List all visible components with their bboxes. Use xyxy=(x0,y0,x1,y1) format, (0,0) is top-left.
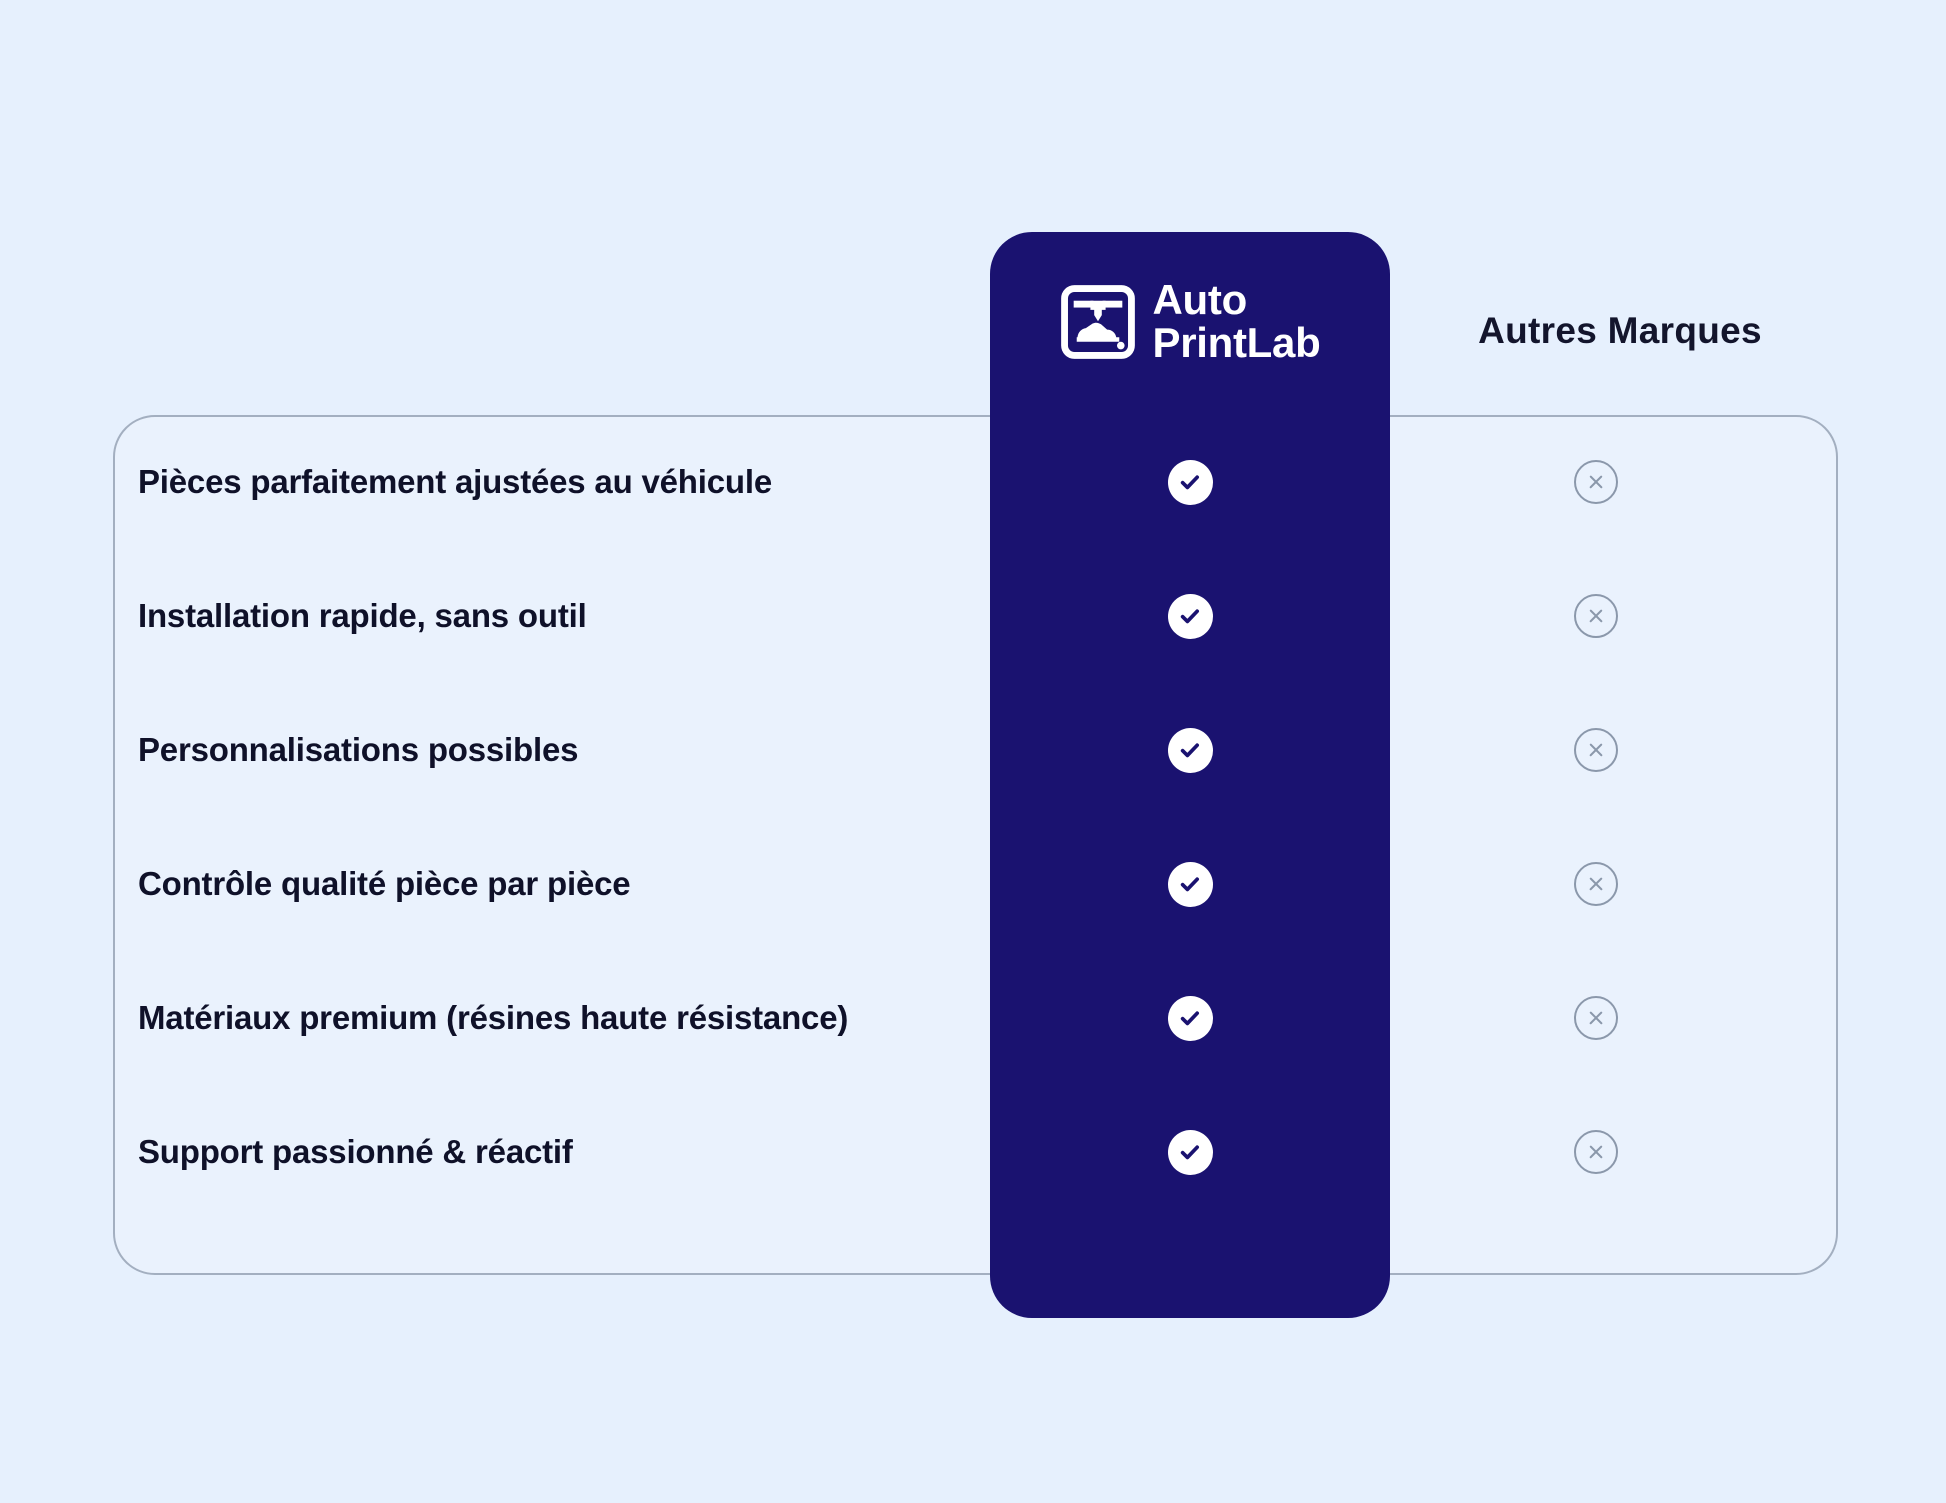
feature-label: Installation rapide, sans outil xyxy=(138,597,587,635)
check-cells xyxy=(990,415,1390,1275)
feature-label: Contrôle qualité pièce par pièce xyxy=(138,865,630,903)
table-row: Support passionné & réactif xyxy=(113,1085,1838,1219)
brand-name-line2: PrintLab xyxy=(1153,319,1321,366)
cross-icon xyxy=(1574,996,1618,1040)
feature-rows: Pièces parfaitement ajustées au véhicule… xyxy=(113,415,1838,1275)
table-row: Personnalisations possibles xyxy=(113,683,1838,817)
comparison-table-page: Autres Marques Pièces parfaitement ajust… xyxy=(0,0,1946,1503)
feature-label: Personnalisations possibles xyxy=(138,731,578,769)
cross-icon xyxy=(1574,728,1618,772)
brand-name: Auto PrintLab xyxy=(1153,279,1321,365)
other-brands-column-header: Autres Marques xyxy=(1440,310,1800,352)
check-icon xyxy=(990,683,1390,817)
cross-icon xyxy=(1574,862,1618,906)
check-icon xyxy=(990,1085,1390,1219)
table-row: Matériaux premium (résines haute résista… xyxy=(113,951,1838,1085)
cross-icon xyxy=(1574,594,1618,638)
table-row: Contrôle qualité pièce par pièce xyxy=(113,817,1838,951)
cross-icon xyxy=(1574,1130,1618,1174)
feature-label: Matériaux premium (résines haute résista… xyxy=(138,999,848,1037)
brand-lockup: Auto PrintLab xyxy=(990,279,1390,365)
3d-printer-car-icon xyxy=(1060,284,1136,360)
table-row: Installation rapide, sans outil xyxy=(113,549,1838,683)
feature-label: Support passionné & réactif xyxy=(138,1133,573,1171)
feature-label: Pièces parfaitement ajustées au véhicule xyxy=(138,463,772,501)
brand-name-line1: Auto xyxy=(1153,276,1247,323)
check-icon xyxy=(990,817,1390,951)
check-icon xyxy=(990,415,1390,549)
cross-icon xyxy=(1574,460,1618,504)
check-icon xyxy=(990,951,1390,1085)
check-icon xyxy=(990,549,1390,683)
autoprintlab-highlight-column: Auto PrintLab xyxy=(990,232,1390,1318)
table-row: Pièces parfaitement ajustées au véhicule xyxy=(113,415,1838,549)
